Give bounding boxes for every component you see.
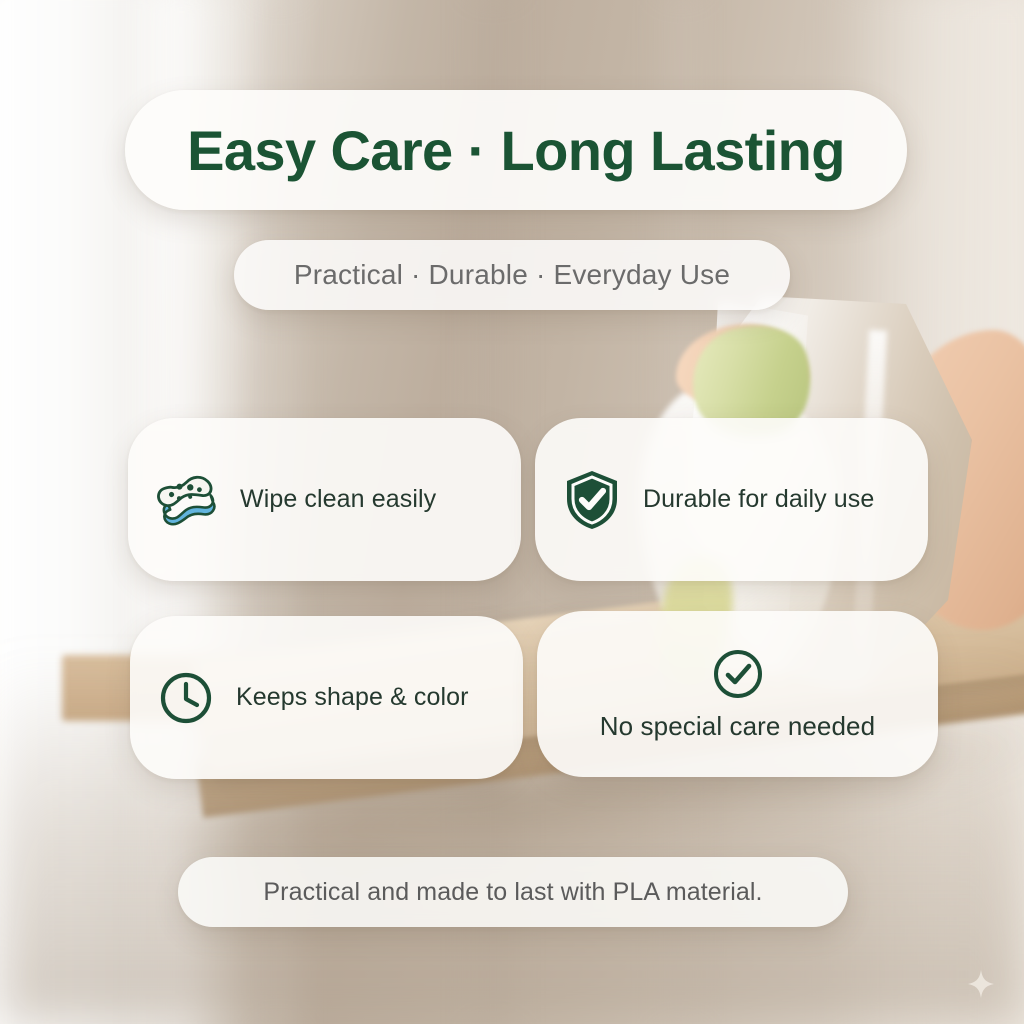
feature-label-no-special-care: No special care needed: [600, 711, 875, 742]
infographic-canvas: Easy Care · Long Lasting Practical · Dur…: [0, 0, 1024, 1024]
page-title: Easy Care · Long Lasting: [187, 118, 845, 183]
footer-card: Practical and made to last with PLA mate…: [178, 857, 848, 927]
footer-text: Practical and made to last with PLA mate…: [263, 878, 762, 907]
sponge-icon: [156, 472, 218, 528]
feature-label-durable-daily: Durable for daily use: [643, 485, 874, 514]
page-subtitle: Practical · Durable · Everyday Use: [294, 259, 730, 291]
subtitle-card: Practical · Durable · Everyday Use: [234, 240, 790, 310]
feature-card-keeps-shape[interactable]: Keeps shape & color: [130, 616, 523, 779]
feature-label-wipe-clean: Wipe clean easily: [240, 485, 436, 514]
feature-label-keeps-shape: Keeps shape & color: [236, 683, 469, 712]
feature-card-wipe-clean[interactable]: Wipe clean easily: [128, 418, 521, 581]
sparkle-icon: [968, 970, 994, 998]
feature-card-no-special-care[interactable]: No special care needed: [537, 611, 938, 777]
title-card: Easy Care · Long Lasting: [125, 90, 907, 210]
clock-icon: [158, 670, 214, 726]
circle-check-icon: [711, 647, 765, 701]
shield-check-icon: [563, 469, 621, 531]
feature-card-durable-daily[interactable]: Durable for daily use: [535, 418, 928, 581]
